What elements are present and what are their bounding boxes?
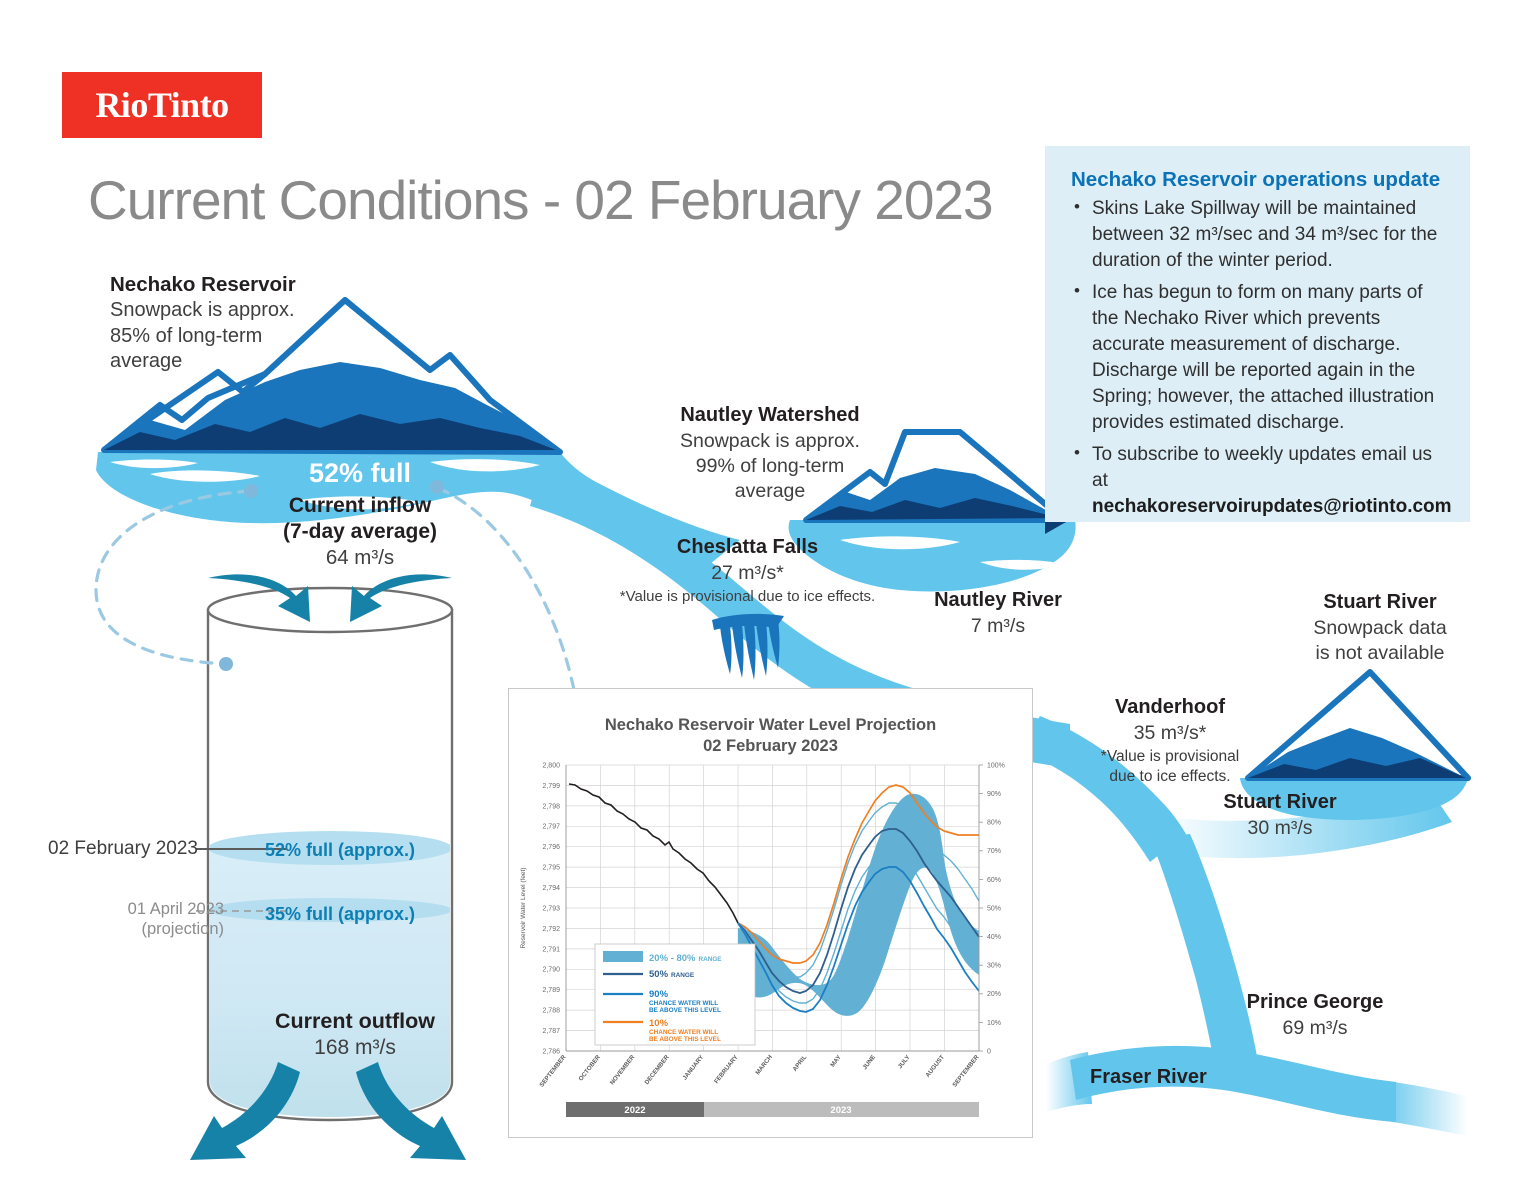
chart-svg: 2,786 2,787 2,788 2,789 2,790 2,791 2,79… <box>509 751 1034 1136</box>
nautley-watershed-label: Nautley Watershed Snowpack is approx. 99… <box>660 403 880 503</box>
svg-text:2,798: 2,798 <box>542 803 560 810</box>
stuart-snowpack-label: Stuart River Snowpack data is not availa… <box>1280 590 1480 666</box>
svg-text:90%: 90% <box>987 791 1001 798</box>
year-band-label-2023: 2023 <box>830 1105 851 1116</box>
svg-text:CHANCE WATER WILL: CHANCE WATER WILL <box>649 1000 718 1007</box>
svg-text:2,790: 2,790 <box>542 967 560 974</box>
riotinto-logo: RioTinto <box>62 72 262 138</box>
nautley-heading: Nautley Watershed <box>660 403 880 429</box>
nechako-line1: Snowpack is approx. <box>110 298 340 324</box>
subscribe-email-link[interactable]: nechakoreservoirupdates@riotinto.com <box>1092 496 1452 517</box>
inflow-subheading: (7-day average) <box>205 519 515 545</box>
chart-band-20-80 <box>738 794 979 1016</box>
svg-text:CHANCE WATER WILL: CHANCE WATER WILL <box>649 1029 718 1036</box>
cheslatta-value: 27 m³/s* <box>595 561 900 586</box>
svg-text:90%: 90% <box>649 989 669 1000</box>
water-level-projection-chart: Nechako Reservoir Water Level Projection… <box>508 688 1033 1138</box>
stuart-river-heading: Stuart River <box>1180 790 1380 816</box>
svg-text:20%: 20% <box>987 991 1001 998</box>
cheslatta-note: *Value is provisional due to ice effects… <box>595 587 900 606</box>
vanderhoof-label: Vanderhoof 35 m³/s* *Value is provisiona… <box>1055 695 1285 787</box>
level-mark-1-date: 02 February 2023 <box>48 838 198 860</box>
chart-x-axis: SEPTEMBER OCTOBER NOVEMBER DECEMBER JANU… <box>538 1053 981 1088</box>
stuart-snowpack-line1: Snowpack data <box>1280 616 1480 641</box>
svg-text:80%: 80% <box>987 820 1001 827</box>
svg-text:2,797: 2,797 <box>542 824 560 831</box>
svg-text:BE ABOVE THIS LEVEL: BE ABOVE THIS LEVEL <box>649 1036 721 1043</box>
operations-bullet-3-text: To subscribe to weekly updates email us … <box>1092 444 1432 491</box>
svg-text:JANUARY: JANUARY <box>681 1053 705 1081</box>
chart-y-axis-title: Reservoir Water Level (feet) <box>520 867 527 948</box>
operations-update-box: Nechako Reservoir operations update Skin… <box>1045 146 1470 522</box>
level-mark-2-date-text: 01 April 2023 <box>104 900 224 920</box>
svg-text:50%: 50% <box>987 905 1001 912</box>
svg-text:MAY: MAY <box>829 1053 843 1068</box>
svg-text:DECEMBER: DECEMBER <box>643 1054 671 1087</box>
svg-text:JULY: JULY <box>897 1053 912 1070</box>
chart-y-axis-right: 0 10% 20% 30% 40% 50% 60% 70% 80% 90% 10… <box>979 762 1005 1055</box>
svg-text:30%: 30% <box>987 963 1001 970</box>
stuart-river-label: Stuart River 30 m³/s <box>1180 790 1380 841</box>
level-mark-1-value: 52% full (approx.) <box>265 840 415 861</box>
nautley-river-value: 7 m³/s <box>898 614 1098 639</box>
chart-title: Nechako Reservoir Water Level Projection <box>509 715 1032 736</box>
chart-line-observed <box>569 784 738 923</box>
nautley-river-heading: Nautley River <box>898 588 1098 614</box>
prince-george-label: Prince George 69 m³/s <box>1215 990 1415 1041</box>
svg-text:2,788: 2,788 <box>542 1008 560 1015</box>
nautley-river-label: Nautley River 7 m³/s <box>898 588 1098 639</box>
chart-legend: 20% - 80%RANGE 50%RANGE 90% CHANCE WATER… <box>595 944 755 1045</box>
svg-text:60%: 60% <box>987 877 1001 884</box>
operations-bullet-2: Ice has begun to form on many parts of t… <box>1071 280 1446 436</box>
operations-bullet-1: Skins Lake Spillway will be maintained b… <box>1071 196 1446 274</box>
prince-george-heading: Prince George <box>1215 990 1415 1016</box>
svg-text:FEBRUARY: FEBRUARY <box>713 1053 740 1085</box>
page-title: Current Conditions - 02 February 2023 <box>88 168 993 232</box>
svg-text:10%: 10% <box>987 1020 1001 1027</box>
svg-text:2,791: 2,791 <box>542 946 560 953</box>
inflow-value: 64 m³/s <box>205 545 515 570</box>
svg-text:2,800: 2,800 <box>542 762 560 769</box>
nechako-line2: 85% of long-term average <box>110 324 340 375</box>
svg-text:AUGUST: AUGUST <box>924 1054 946 1079</box>
fraser-right-fade <box>1380 1080 1468 1136</box>
reservoir-percent-full-banner: 52% full <box>220 458 500 489</box>
vanderhoof-value: 35 m³/s* <box>1055 721 1285 746</box>
outflow-heading: Current outflow <box>200 1008 510 1034</box>
svg-text:2,787: 2,787 <box>542 1028 560 1035</box>
svg-text:BE ABOVE THIS LEVEL: BE ABOVE THIS LEVEL <box>649 1007 721 1014</box>
svg-text:2,789: 2,789 <box>542 987 560 994</box>
vanderhoof-heading: Vanderhoof <box>1055 695 1285 721</box>
svg-text:JUNE: JUNE <box>861 1054 877 1071</box>
vanderhoof-note2: due to ice effects. <box>1055 768 1285 787</box>
level-mark-2-note: (projection) <box>104 920 224 940</box>
stuart-snowpack-heading: Stuart River <box>1280 590 1480 616</box>
outflow-value: 168 m³/s <box>200 1035 510 1061</box>
svg-text:2,799: 2,799 <box>542 783 560 790</box>
svg-text:SEPTEMBER: SEPTEMBER <box>951 1054 981 1089</box>
current-outflow-label: Current outflow 168 m³/s <box>200 1008 510 1061</box>
inflow-heading: Current inflow <box>205 493 515 519</box>
svg-text:2,794: 2,794 <box>542 885 560 892</box>
operations-bullet-3: To subscribe to weekly updates email us … <box>1071 442 1446 520</box>
prince-george-value: 69 m³/s <box>1215 1016 1415 1041</box>
current-inflow-label: Current inflow (7-day average) 64 m³/s <box>205 493 515 570</box>
operations-update-title: Nechako Reservoir operations update <box>1071 168 1446 192</box>
svg-text:100%: 100% <box>987 762 1005 769</box>
svg-text:0: 0 <box>987 1048 991 1055</box>
svg-text:2,795: 2,795 <box>542 865 560 872</box>
level-mark-2-value: 35% full (approx.) <box>265 904 415 925</box>
cheslatta-falls-label: Cheslatta Falls 27 m³/s* *Value is provi… <box>595 535 900 606</box>
cheslatta-falls-icon <box>712 614 784 680</box>
year-band-label-2022: 2022 <box>624 1105 645 1116</box>
nautley-line2: 99% of long-term average <box>660 454 880 504</box>
svg-text:70%: 70% <box>987 848 1001 855</box>
svg-text:2,796: 2,796 <box>542 844 560 851</box>
infographic-canvas: RioTinto Current Conditions - 02 Februar… <box>0 0 1536 1187</box>
svg-text:APRIL: APRIL <box>791 1054 808 1073</box>
chart-year-bands: 2022 2023 <box>566 1102 979 1117</box>
svg-text:2,793: 2,793 <box>542 905 560 912</box>
fraser-river-heading: Fraser River <box>1090 1065 1270 1091</box>
nechako-heading: Nechako Reservoir <box>110 272 340 298</box>
stuart-river-value: 30 m³/s <box>1180 816 1380 841</box>
svg-text:2,792: 2,792 <box>542 926 560 933</box>
logo-text: RioTinto <box>95 84 228 126</box>
svg-text:NOVEMBER: NOVEMBER <box>609 1054 637 1087</box>
svg-text:40%: 40% <box>987 934 1001 941</box>
cheslatta-heading: Cheslatta Falls <box>595 535 900 561</box>
chart-y-axis-left: 2,786 2,787 2,788 2,789 2,790 2,791 2,79… <box>520 762 560 1055</box>
operations-update-list: Skins Lake Spillway will be maintained b… <box>1071 196 1446 520</box>
svg-text:2,786: 2,786 <box>542 1048 560 1055</box>
svg-text:SEPTEMBER: SEPTEMBER <box>538 1054 568 1089</box>
level-mark-2-date: 01 April 2023 (projection) <box>104 900 224 940</box>
nautley-line1: Snowpack is approx. <box>660 429 880 454</box>
svg-text:10%: 10% <box>649 1018 669 1029</box>
stuart-snowpack-line2: is not available <box>1280 641 1480 666</box>
fraser-river-label: Fraser River <box>1090 1065 1270 1091</box>
nechako-reservoir-label: Nechako Reservoir Snowpack is approx. 85… <box>110 272 340 375</box>
vanderhoof-note1: *Value is provisional <box>1055 748 1285 767</box>
svg-text:OCTOBER: OCTOBER <box>577 1054 602 1083</box>
svg-text:MARCH: MARCH <box>754 1054 774 1077</box>
